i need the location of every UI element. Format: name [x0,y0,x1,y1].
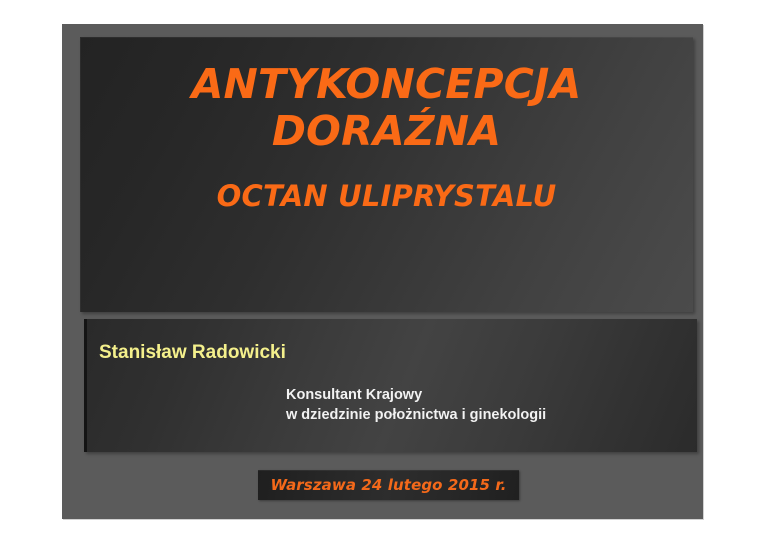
author-role-line-1: Konsultant Krajowy [286,385,546,405]
title-panel: ANTYKONCEPCJA DORAŹNA OCTAN ULIPRYSTALU [80,37,693,312]
slide-subtitle: OCTAN ULIPRYSTALU [80,179,693,213]
subtitle-line-1: OCTAN ULIPRYSTALU [80,179,693,213]
date-bar: Warszawa 24 lutego 2015 r. [258,470,519,500]
presentation-slide: ANTYKONCEPCJA DORAŹNA OCTAN ULIPRYSTALU … [0,0,768,543]
author-role: Konsultant Krajowy w dziedzinie położnic… [286,385,546,425]
author-panel: Stanisław Radowicki Konsultant Krajowy w… [84,319,697,452]
author-role-line-2: w dziedzinie położnictwa i ginekologii [286,405,546,425]
author-name: Stanisław Radowicki [99,342,286,364]
slide-frame: ANTYKONCEPCJA DORAŹNA OCTAN ULIPRYSTALU … [62,24,703,519]
date-text: Warszawa 24 lutego 2015 r. [270,477,506,494]
title-line-1: ANTYKONCEPCJA [80,61,693,108]
slide-title: ANTYKONCEPCJA DORAŹNA [80,61,693,155]
title-line-2: DORAŹNA [80,108,693,155]
